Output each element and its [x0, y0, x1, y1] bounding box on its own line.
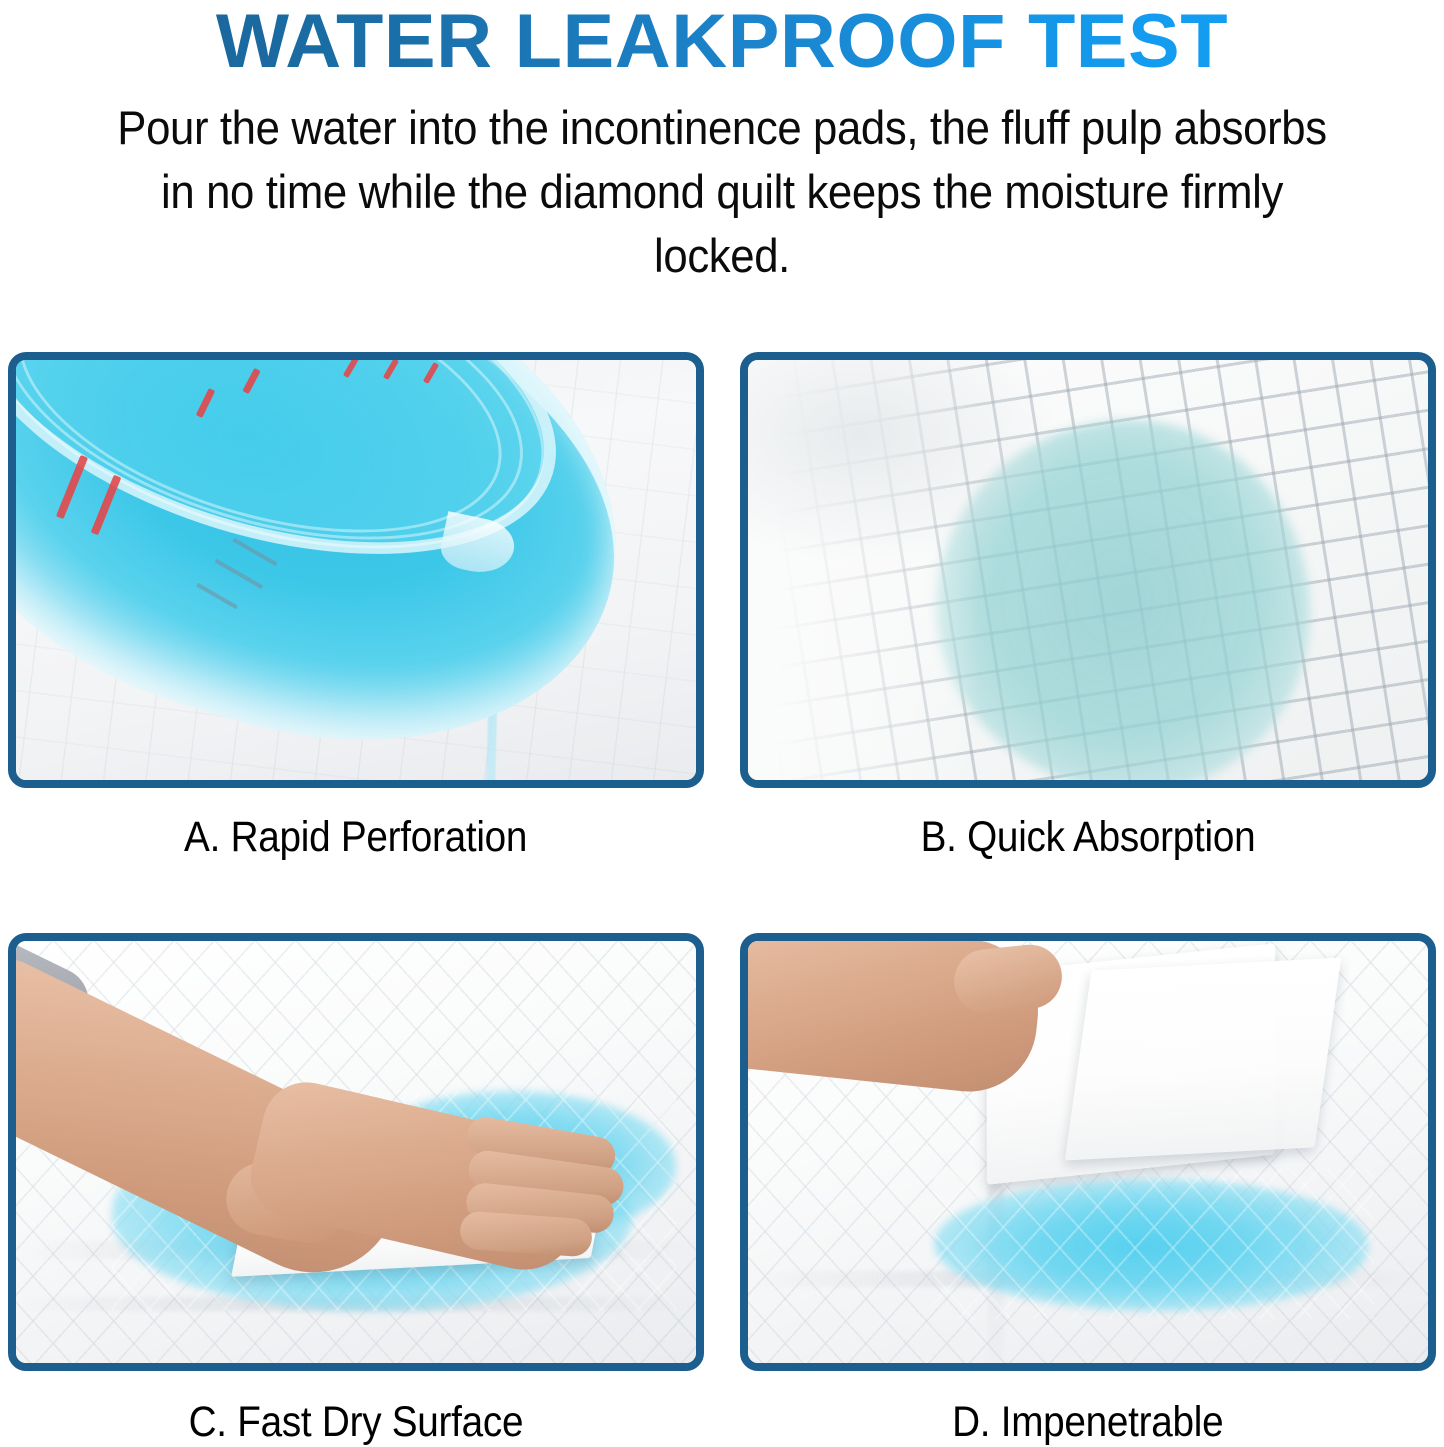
panel-c-caption: C. Fast Dry Surface — [189, 1397, 524, 1447]
panel-cell-b: B. Quick Absorption — [732, 352, 1444, 862]
panel-a-image — [8, 352, 704, 788]
pad-shadow-highlight — [740, 352, 1058, 560]
panel-grid: A. Rapid Perforation B. Quick Absorption — [0, 352, 1444, 1447]
panel-row-top: A. Rapid Perforation B. Quick Absorption — [0, 352, 1444, 862]
panel-cell-d: D. Impenetrable — [732, 933, 1444, 1447]
page-title: WATER LEAKPROOF TEST — [0, 2, 1444, 82]
panel-d-caption: D. Impenetrable — [952, 1397, 1223, 1447]
panel-c-image — [8, 933, 704, 1371]
wet-quilt-lines — [934, 1169, 1374, 1319]
panel-a-caption: A. Rapid Perforation — [184, 812, 527, 862]
page-subtitle: Pour the water into the incontinence pad… — [99, 96, 1345, 288]
tissue-paper-fold — [1065, 958, 1341, 1161]
panel-cell-c: C. Fast Dry Surface — [0, 933, 712, 1447]
panel-cell-a: A. Rapid Perforation — [0, 352, 712, 862]
panel-b-caption: B. Quick Absorption — [921, 812, 1256, 862]
panel-b-image — [740, 352, 1436, 788]
panel-d-image — [740, 933, 1436, 1371]
header: WATER LEAKPROOF TEST Pour the water into… — [0, 0, 1444, 288]
panel-row-bottom: C. Fast Dry Surface D. Impenetrable — [0, 933, 1444, 1447]
